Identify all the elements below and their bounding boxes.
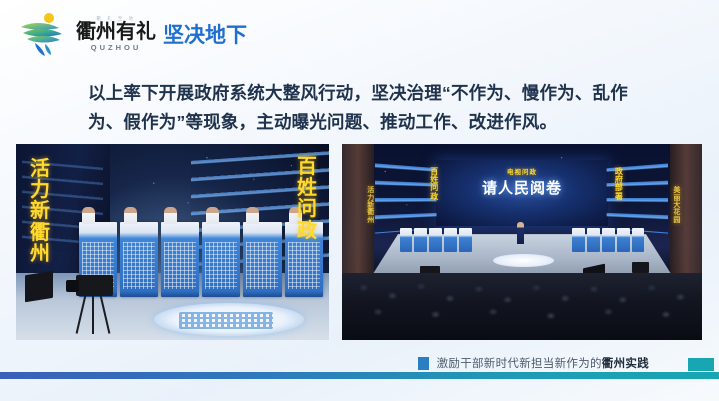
vertical-char: 州 bbox=[367, 217, 374, 224]
right-desk-row-left bbox=[400, 228, 472, 252]
banner-small-label: 电视问政 bbox=[443, 166, 601, 176]
vertical-char: 美 bbox=[673, 187, 680, 194]
vertical-char: 力 bbox=[367, 195, 374, 202]
body-paragraph: 以上率下开展政府系统大整风行动，坚决治理“不作为、慢作为、乱作为、假作为”等现象… bbox=[88, 79, 648, 137]
podium bbox=[161, 222, 199, 296]
vertical-char: 园 bbox=[673, 217, 680, 224]
vertical-char: 署 bbox=[615, 193, 623, 201]
podium bbox=[120, 222, 158, 296]
right-banner-left-label: 百姓问政 bbox=[430, 168, 438, 202]
vertical-char: 衢 bbox=[30, 223, 50, 244]
vertical-char: 百 bbox=[297, 157, 317, 178]
right-screen-banner: 电视问政 请人民阅卷 bbox=[443, 166, 601, 198]
logo-pinyin: QUZHOU bbox=[91, 43, 142, 52]
vertical-char: 政 bbox=[297, 221, 317, 242]
vertical-char: 姓 bbox=[297, 178, 317, 199]
banner-large-label: 请人民阅卷 bbox=[443, 177, 601, 198]
right-banner-left: 百姓问政 bbox=[430, 168, 438, 202]
vertical-char: 衢 bbox=[367, 209, 374, 216]
desk-unit bbox=[617, 228, 630, 252]
brand-header: 衢 礼 至 地 衢州有礼 QUZHOU 坚决地下 bbox=[18, 10, 247, 58]
desk-unit bbox=[587, 228, 600, 252]
right-host-figure bbox=[517, 222, 524, 244]
podium bbox=[243, 222, 281, 296]
right-audience-block bbox=[342, 273, 702, 340]
auditorium-photo: 电视问政 请人民阅卷 百姓问政 政府部署 活力新衢州 美丽大花园 bbox=[342, 144, 702, 340]
caption-highlight: 衢州实践 bbox=[602, 358, 649, 370]
left-stage-speaker bbox=[25, 271, 53, 303]
caption-accent-bar-right bbox=[688, 358, 714, 371]
caption-prefix: 激励干部新时代新担当新作为的 bbox=[437, 358, 602, 370]
vertical-char: 问 bbox=[297, 199, 317, 220]
vertical-char: 州 bbox=[30, 244, 50, 265]
vertical-char: 丽 bbox=[673, 195, 680, 202]
footer-caption: 激励干部新时代新担当新作为的衢州实践 bbox=[418, 355, 649, 371]
desk-unit bbox=[414, 228, 427, 252]
right-panel-left bbox=[375, 163, 437, 233]
left-overlay-right-label: 百姓问政 bbox=[297, 157, 317, 242]
sun-wing-landscape-icon bbox=[18, 11, 74, 57]
left-floor-disc-logo bbox=[179, 312, 273, 330]
desk-unit bbox=[429, 228, 442, 252]
right-banner-right: 政府部署 bbox=[615, 168, 623, 202]
right-banner-far-right-label: 美丽大花园 bbox=[673, 187, 680, 224]
desk-unit bbox=[572, 228, 585, 252]
vertical-char: 政 bbox=[430, 193, 438, 201]
right-banner-right-label: 政府部署 bbox=[615, 168, 623, 202]
right-desk-row-right bbox=[572, 228, 644, 252]
left-overlay-text-right: 百姓问政 bbox=[297, 157, 317, 242]
footer-divider bbox=[0, 372, 719, 379]
brand-lockup: 衢 礼 至 地 衢州有礼 QUZHOU 坚决地下 bbox=[76, 16, 247, 52]
logo-slogan: 坚决地下 bbox=[163, 19, 247, 49]
logo-micro-text: 衢 礼 至 地 bbox=[96, 16, 135, 22]
right-banner-far-right: 美丽大花园 bbox=[673, 187, 680, 224]
vertical-char: 活 bbox=[367, 187, 374, 194]
caption-accent-bar-left bbox=[418, 357, 429, 370]
right-banner-far-left: 活力新衢州 bbox=[367, 187, 374, 224]
podium bbox=[202, 222, 240, 296]
vertical-char: 新 bbox=[30, 201, 50, 222]
left-overlay-text-left: 活力新衢州 bbox=[30, 159, 50, 265]
photo-gallery: 活力新衢州 百姓问政 bbox=[16, 144, 702, 340]
desk-unit bbox=[602, 228, 615, 252]
vertical-char: 活 bbox=[30, 159, 50, 180]
desk-unit bbox=[400, 228, 413, 252]
caption-text: 激励干部新时代新担当新作为的衢州实践 bbox=[437, 355, 649, 371]
vertical-char: 花 bbox=[673, 209, 680, 216]
left-camera-tripod bbox=[69, 275, 119, 334]
desk-unit bbox=[632, 228, 645, 252]
desk-unit bbox=[459, 228, 472, 252]
left-overlay-left-label: 活力新衢州 bbox=[30, 159, 50, 265]
right-banner-far-left-label: 活力新衢州 bbox=[367, 187, 374, 224]
desk-unit bbox=[444, 228, 457, 252]
right-audience-heads bbox=[342, 273, 702, 340]
logo-chinese-name: 衢州有礼 bbox=[76, 22, 156, 43]
vertical-char: 力 bbox=[30, 180, 50, 201]
studio-panel-photo: 活力新衢州 百姓问政 bbox=[16, 144, 329, 340]
slide-root: 衢 礼 至 地 衢州有礼 QUZHOU 坚决地下 以上率下开展政府系统大整风行动… bbox=[0, 0, 719, 401]
